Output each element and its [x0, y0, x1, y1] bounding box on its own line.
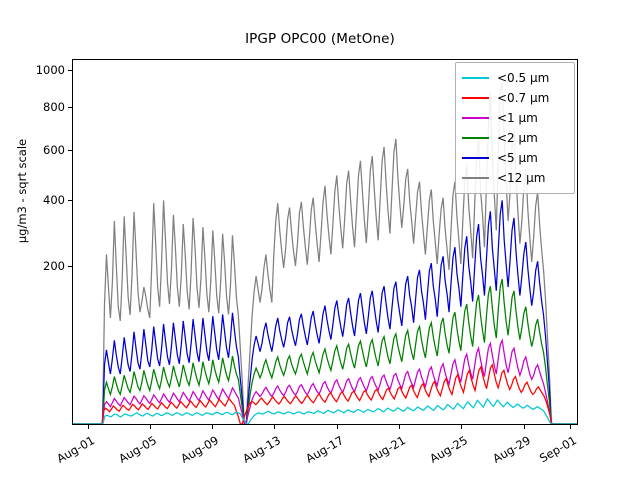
x-tick-label: Sep-01 [531, 433, 580, 469]
legend-item[interactable]: <0.7 µm [462, 88, 567, 108]
series-line [73, 340, 577, 424]
legend[interactable]: <0.5 µm<0.7 µm<1 µm<2 µm<5 µm<12 µm [455, 62, 575, 194]
legend-swatch [462, 157, 489, 159]
y-tick-label: 1000 [0, 63, 65, 77]
series-line [73, 365, 577, 424]
x-tick-mark [88, 425, 89, 429]
x-tick-label: Aug-21 [359, 433, 408, 469]
x-tick-mark [570, 425, 571, 429]
chart-title: IPGP OPC00 (MetOne) [0, 31, 640, 47]
x-tick-label: Aug-25 [422, 433, 471, 469]
legend-label: <5 µm [497, 151, 538, 165]
legend-swatch [462, 117, 489, 119]
x-tick-mark [150, 425, 151, 429]
x-tick-label: Aug-13 [235, 433, 284, 469]
x-tick-label: Aug-09 [173, 433, 222, 469]
legend-label: <12 µm [497, 171, 545, 185]
legend-item[interactable]: <12 µm [462, 168, 567, 188]
x-tick-label: Aug-05 [110, 433, 159, 469]
y-tick-label: 600 [0, 143, 65, 157]
y-tick-label: 800 [0, 100, 65, 114]
x-tick-mark [461, 425, 462, 429]
x-tick-label: Aug-01 [48, 433, 97, 469]
legend-item[interactable]: <1 µm [462, 108, 567, 128]
legend-swatch [462, 177, 489, 179]
legend-swatch [462, 97, 489, 99]
legend-label: <2 µm [497, 131, 538, 145]
x-tick-label: Aug-29 [484, 433, 533, 469]
x-tick-label: Aug-17 [297, 433, 346, 469]
y-tick-label: 400 [0, 193, 65, 207]
y-tick-label: 200 [0, 259, 65, 273]
legend-item[interactable]: <5 µm [462, 148, 567, 168]
legend-swatch [462, 137, 489, 139]
legend-swatch [462, 77, 489, 79]
legend-item[interactable]: <0.5 µm [462, 68, 567, 88]
x-tick-mark [337, 425, 338, 429]
x-tick-mark [524, 425, 525, 429]
legend-item[interactable]: <2 µm [462, 128, 567, 148]
legend-label: <0.5 µm [497, 71, 549, 85]
x-tick-mark [274, 425, 275, 429]
x-tick-mark [212, 425, 213, 429]
x-tick-mark [399, 425, 400, 429]
legend-label: <1 µm [497, 111, 538, 125]
legend-label: <0.7 µm [497, 91, 549, 105]
figure: IPGP OPC00 (MetOne) µg/m3 - sqrt scale 2… [0, 0, 640, 480]
